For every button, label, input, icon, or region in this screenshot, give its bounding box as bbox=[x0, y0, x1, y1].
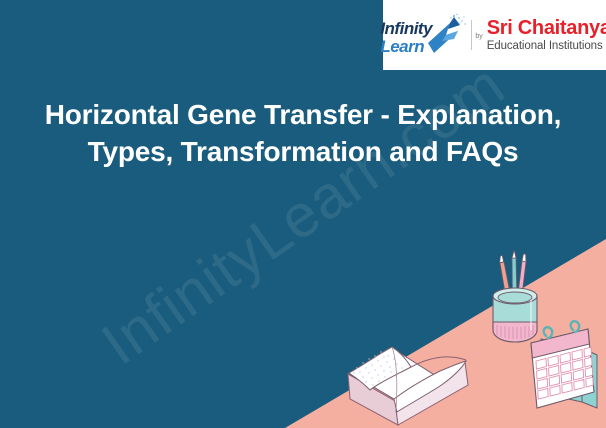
page-title-line-1: Horizontal Gene Transfer - bbox=[45, 99, 390, 130]
page-title-line-3: and FAQs bbox=[389, 136, 518, 167]
logo-divider bbox=[471, 20, 472, 50]
arrow-swoosh-icon bbox=[424, 13, 470, 55]
brand-logo-panel[interactable]: Infinity Learn by Sri Chaitanya Educatio… bbox=[383, 0, 606, 70]
page-title: Horizontal Gene Transfer - Explanation, … bbox=[0, 96, 606, 170]
sri-chaitanya-logo[interactable]: Sri Chaitanya Educational Institutions bbox=[487, 18, 606, 53]
logo-by-label: by bbox=[475, 33, 482, 40]
partner-tagline-text: Educational Institutions bbox=[487, 41, 606, 53]
partner-name-text: Sri Chaitanya bbox=[487, 18, 606, 38]
logo-learn-text: Learn bbox=[380, 38, 424, 55]
thumbnail-canvas: InfinityLearn.com bbox=[0, 0, 606, 428]
infinity-learn-logo[interactable]: Infinity Learn bbox=[378, 9, 470, 61]
